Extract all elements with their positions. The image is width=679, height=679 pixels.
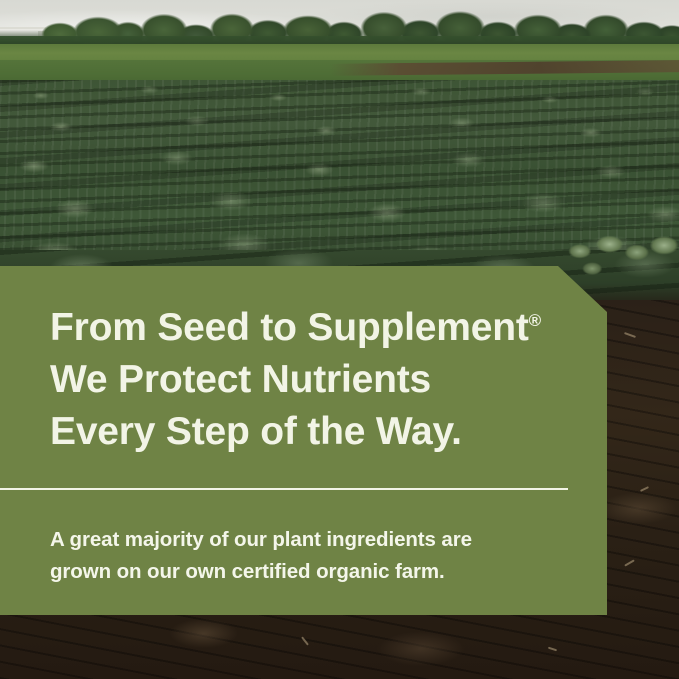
divider-rule [0,488,568,490]
registered-trademark-icon: ® [529,311,542,330]
headline-line-1: From Seed to Supplement® [50,295,595,354]
subcopy-line-1: A great majority of our plant ingredient… [50,524,590,556]
headline-line-2: We Protect Nutrients [50,354,595,406]
treeline-region [0,8,679,48]
headline-line-3: Every Step of the Way. [50,406,595,458]
headline: From Seed to Supplement® We Protect Nutr… [50,295,595,458]
headline-line-1-text: From Seed to Supplement [50,306,529,349]
subcopy-line-2: grown on our own certified organic farm. [50,556,590,588]
kale-plant-cluster [555,228,679,286]
subcopy: A great majority of our plant ingredient… [50,524,590,588]
promo-image: From Seed to Supplement® We Protect Nutr… [0,0,679,679]
